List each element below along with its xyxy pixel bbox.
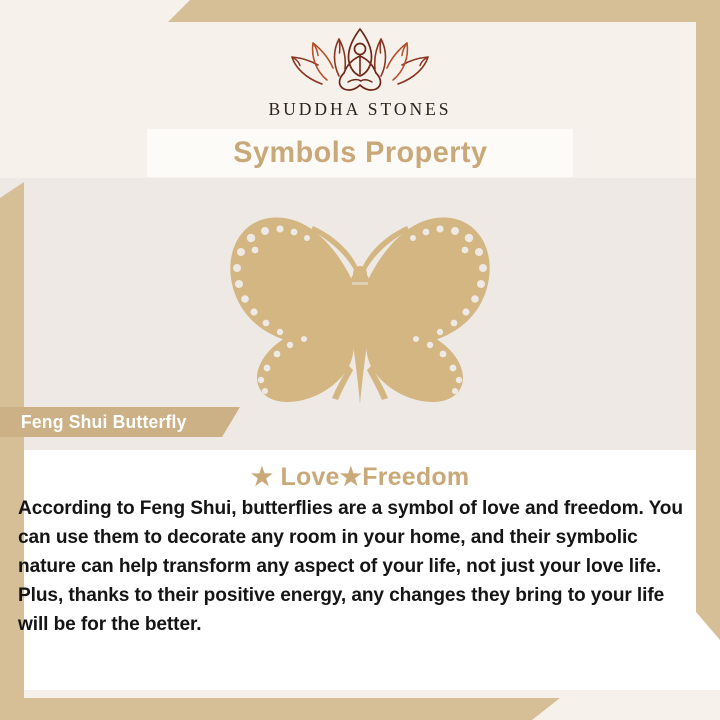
content-paragraph: According to Feng Shui, butterflies are …: [18, 494, 692, 639]
brand-wordmark: BUDDHA STONES: [0, 99, 720, 120]
decorative-band-left: [0, 182, 24, 720]
badge-label: Feng Shui Butterfly: [0, 411, 187, 433]
infographic-page: BUDDHA STONES Symbols Property: [0, 0, 720, 720]
feng-shui-badge: Feng Shui Butterfly: [0, 407, 240, 437]
lotus-meditation-figure-icon: [285, 28, 435, 94]
page-title: Symbols Property: [233, 136, 487, 170]
decorative-band-bottom: [0, 698, 600, 720]
content-headline: ★ Love★Freedom: [0, 462, 720, 492]
title-banner: Symbols Property: [147, 129, 573, 177]
brand-logo: BUDDHA STONES: [0, 28, 720, 120]
